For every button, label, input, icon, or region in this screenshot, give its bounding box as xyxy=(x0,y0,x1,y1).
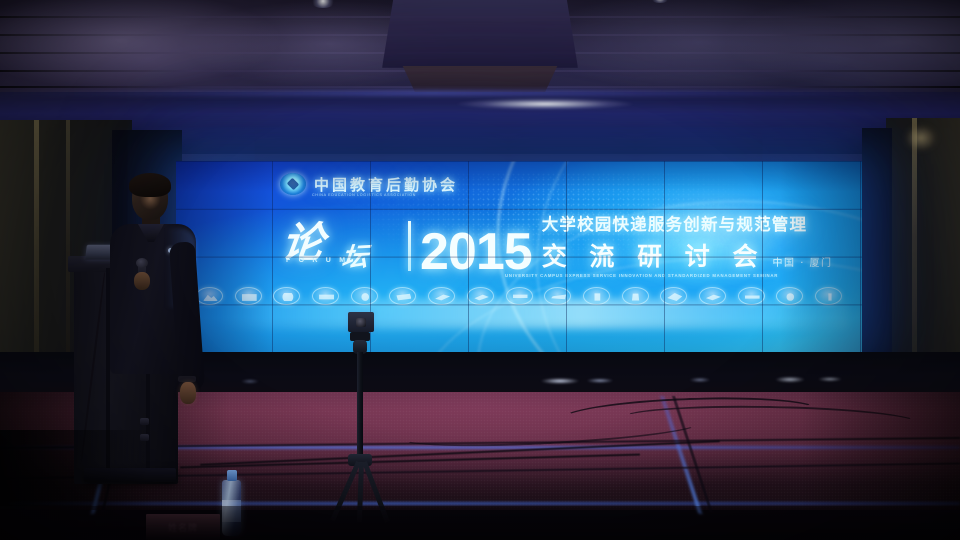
bottle-cap xyxy=(227,470,237,481)
speaker-right-hand xyxy=(180,382,196,404)
foreground-shadow-bottom xyxy=(0,506,960,540)
speaker-left-hand xyxy=(134,272,150,290)
led-video-wall: 中国教育后勤协会 CHINA EDUCATION LOGISTICS ASSOC… xyxy=(176,161,862,352)
ceiling-soffit xyxy=(382,0,578,68)
microphone-head-icon xyxy=(136,258,148,268)
right-wall-spotlight-icon xyxy=(898,122,944,162)
conference-stage-photo: 中国教育后勤协会 CHINA EDUCATION LOGISTICS ASSOC… xyxy=(0,0,960,540)
wall-light-reflection xyxy=(430,96,660,112)
floor-shadow-right xyxy=(800,392,960,510)
speaker-hair xyxy=(129,173,171,197)
tripod-column xyxy=(357,352,363,458)
camera-tripod xyxy=(326,312,412,524)
camera-lens-icon xyxy=(356,318,366,327)
led-vignette xyxy=(176,161,862,352)
